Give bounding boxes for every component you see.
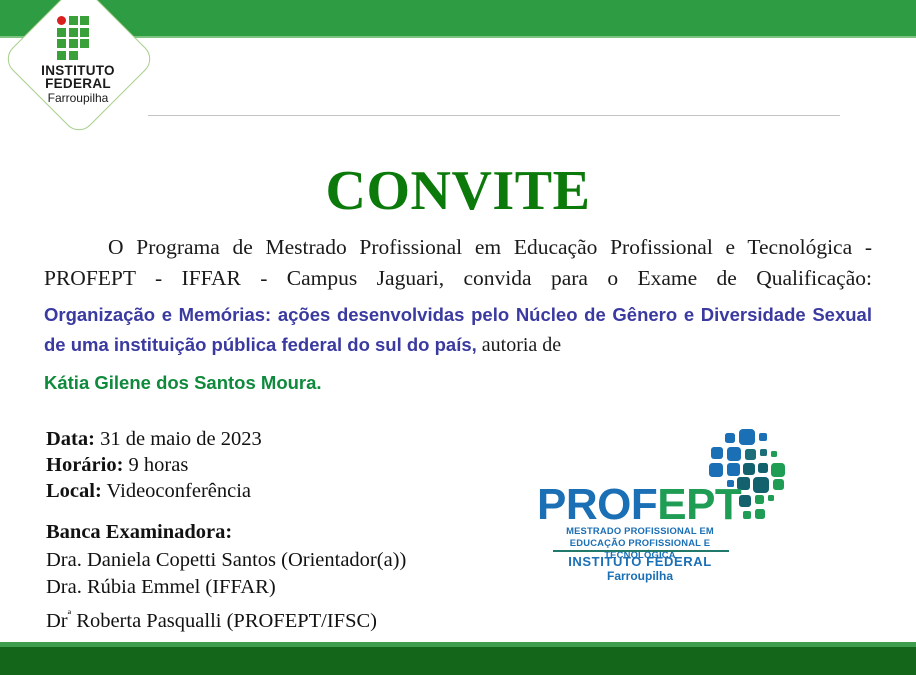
if-monogram-icon: [57, 16, 99, 60]
detail-row-date: Data: 31 de maio de 2023: [46, 426, 262, 452]
detail-value-date: 31 de maio de 2023: [95, 428, 262, 450]
header-divider: [148, 115, 840, 116]
thesis-connector: autoria de: [477, 334, 561, 356]
examining-board-heading: Banca Examinadora:: [46, 519, 406, 547]
intro-paragraph: O Programa de Mestrado Profissional em E…: [44, 232, 872, 294]
profept-word-green: EPT: [657, 480, 741, 529]
page-title: CONVITE: [0, 163, 916, 219]
profept-institution-line1: INSTITUTO FEDERAL: [537, 555, 743, 569]
thesis-title-block: Organização e Memórias: ações desenvolvi…: [44, 300, 872, 360]
if-logo-line1: INSTITUTO: [41, 64, 115, 78]
detail-row-location: Local: Videoconferência: [46, 478, 262, 504]
detail-label-location: Local:: [46, 480, 102, 502]
board-member: Dra. Rúbia Emmel (IFFAR): [46, 574, 406, 602]
thesis-highlight: Organização e Memórias: ações desenvolvi…: [44, 304, 872, 355]
profept-word-blue: PROF: [537, 480, 657, 529]
board-member: Drª Roberta Pasqualli (PROFEPT/IFSC): [46, 602, 406, 635]
profept-logo: PROFEPT MESTRADO PROFISSIONAL EM EDUCAÇÃ…: [537, 425, 789, 585]
invitation-page: INSTITUTO FEDERAL Farroupilha CONVITE O …: [0, 0, 916, 675]
profept-subtitle-line1: MESTRADO PROFISSIONAL EM: [537, 525, 743, 537]
board-member-rest: Roberta Pasqualli (PROFEPT/IFSC): [71, 609, 377, 631]
board-member-prefix: Dr: [46, 609, 68, 631]
detail-value-time: 9 horas: [123, 454, 188, 476]
thesis-author: Kátia Gilene dos Santos Moura.: [44, 368, 872, 398]
examining-board: Banca Examinadora: Dra. Daniela Copetti …: [46, 519, 406, 635]
detail-row-time: Horário: 9 horas: [46, 452, 262, 478]
profept-divider: [553, 550, 729, 552]
if-logo-text: INSTITUTO FEDERAL Farroupilha: [41, 64, 115, 104]
detail-value-location: Videoconferência: [102, 480, 251, 502]
board-member: Dra. Daniela Copetti Santos (Orientador(…: [46, 547, 406, 575]
logo-content: INSTITUTO FEDERAL Farroupilha: [2, 0, 154, 134]
bottom-green-band: [0, 647, 916, 675]
detail-label-time: Horário:: [46, 454, 123, 476]
detail-label-date: Data:: [46, 428, 95, 450]
if-logo-line3: Farroupilha: [41, 92, 115, 104]
event-details: Data: 31 de maio de 2023 Horário: 9 hora…: [46, 426, 262, 504]
profept-wordmark: PROFEPT: [537, 483, 741, 527]
if-logo-line2: FEDERAL: [41, 77, 115, 91]
instituto-federal-logo: INSTITUTO FEDERAL Farroupilha: [2, 0, 154, 134]
profept-institution: INSTITUTO FEDERAL Farroupilha: [537, 555, 743, 583]
profept-institution-line2: Farroupilha: [537, 569, 743, 583]
